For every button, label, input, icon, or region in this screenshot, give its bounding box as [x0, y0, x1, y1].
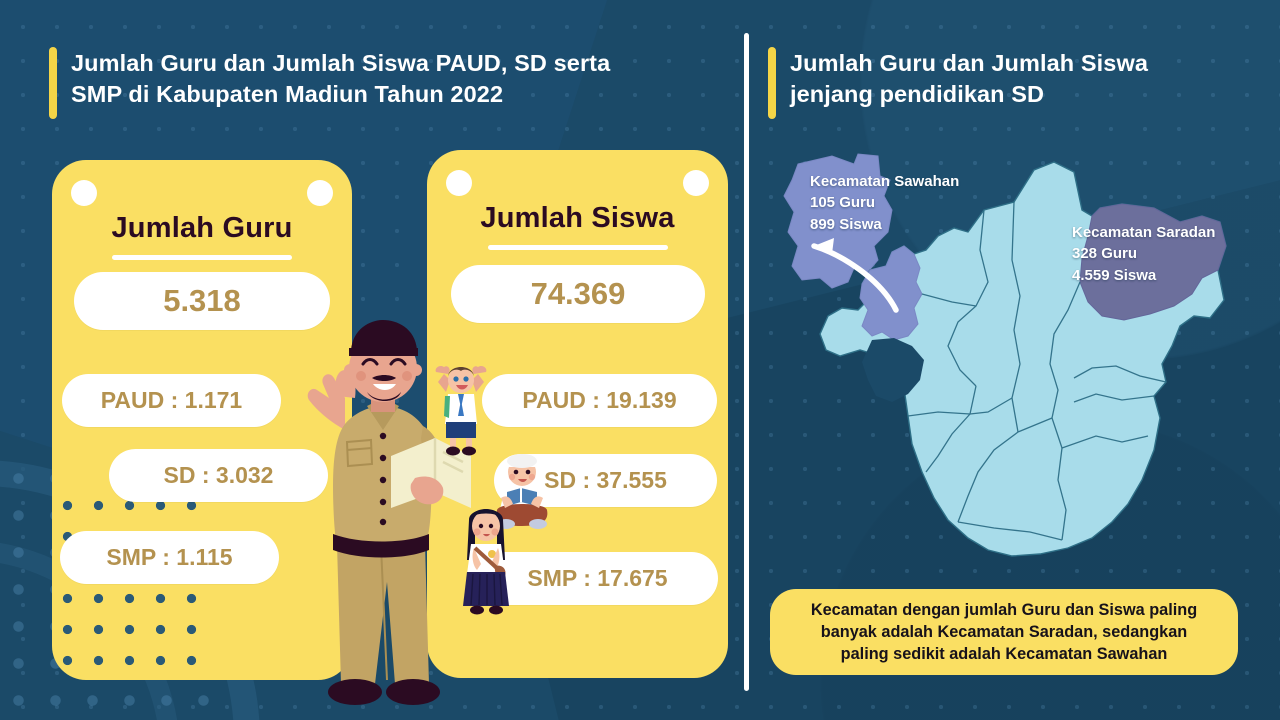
- card-dot-texture: [52, 490, 202, 680]
- map-caption-text: Kecamatan dengan jumlah Guru dan Siswa p…: [811, 599, 1197, 665]
- student-girl-illustration: [455, 502, 517, 618]
- guru-paud-value: PAUD : 1.171: [62, 374, 281, 427]
- card-heading-rule: [488, 245, 668, 250]
- right-panel-title-text: Jumlah Guru dan Jumlah Siswa jenjang pen…: [790, 47, 1148, 119]
- right-panel-title: Jumlah Guru dan Jumlah Siswa jenjang pen…: [768, 47, 1228, 119]
- panel-divider: [744, 33, 749, 691]
- title-accent-bar: [768, 47, 776, 119]
- siswa-paud-value: PAUD : 19.139: [482, 374, 717, 427]
- card-heading-guru: Jumlah Guru: [52, 212, 352, 245]
- map-label-saradan: Kecamatan Saradan 328 Guru 4.559 Siswa: [1072, 222, 1215, 286]
- card-punch-hole-right: [683, 170, 709, 196]
- left-panel-title: Jumlah Guru dan Jumlah Siswa PAUD, SD se…: [49, 47, 709, 119]
- card-punch-hole-right: [307, 180, 333, 206]
- card-heading-rule: [112, 255, 292, 260]
- map-kabupaten-madiun[interactable]: Kecamatan Sawahan 105 Guru 899 Siswa Kec…: [762, 150, 1262, 570]
- card-punch-hole-left: [71, 180, 97, 206]
- card-heading-siswa: Jumlah Siswa: [427, 202, 728, 235]
- guru-smp-value: SMP : 1.115: [60, 531, 279, 584]
- left-panel-title-text: Jumlah Guru dan Jumlah Siswa PAUD, SD se…: [71, 47, 610, 119]
- card-punch-hole-left: [446, 170, 472, 196]
- student-cheering-illustration: [430, 358, 492, 456]
- map-caption-box: Kecamatan dengan jumlah Guru dan Siswa p…: [770, 589, 1238, 675]
- title-accent-bar: [49, 47, 57, 119]
- map-label-sawahan: Kecamatan Sawahan 105 Guru 899 Siswa: [810, 171, 959, 235]
